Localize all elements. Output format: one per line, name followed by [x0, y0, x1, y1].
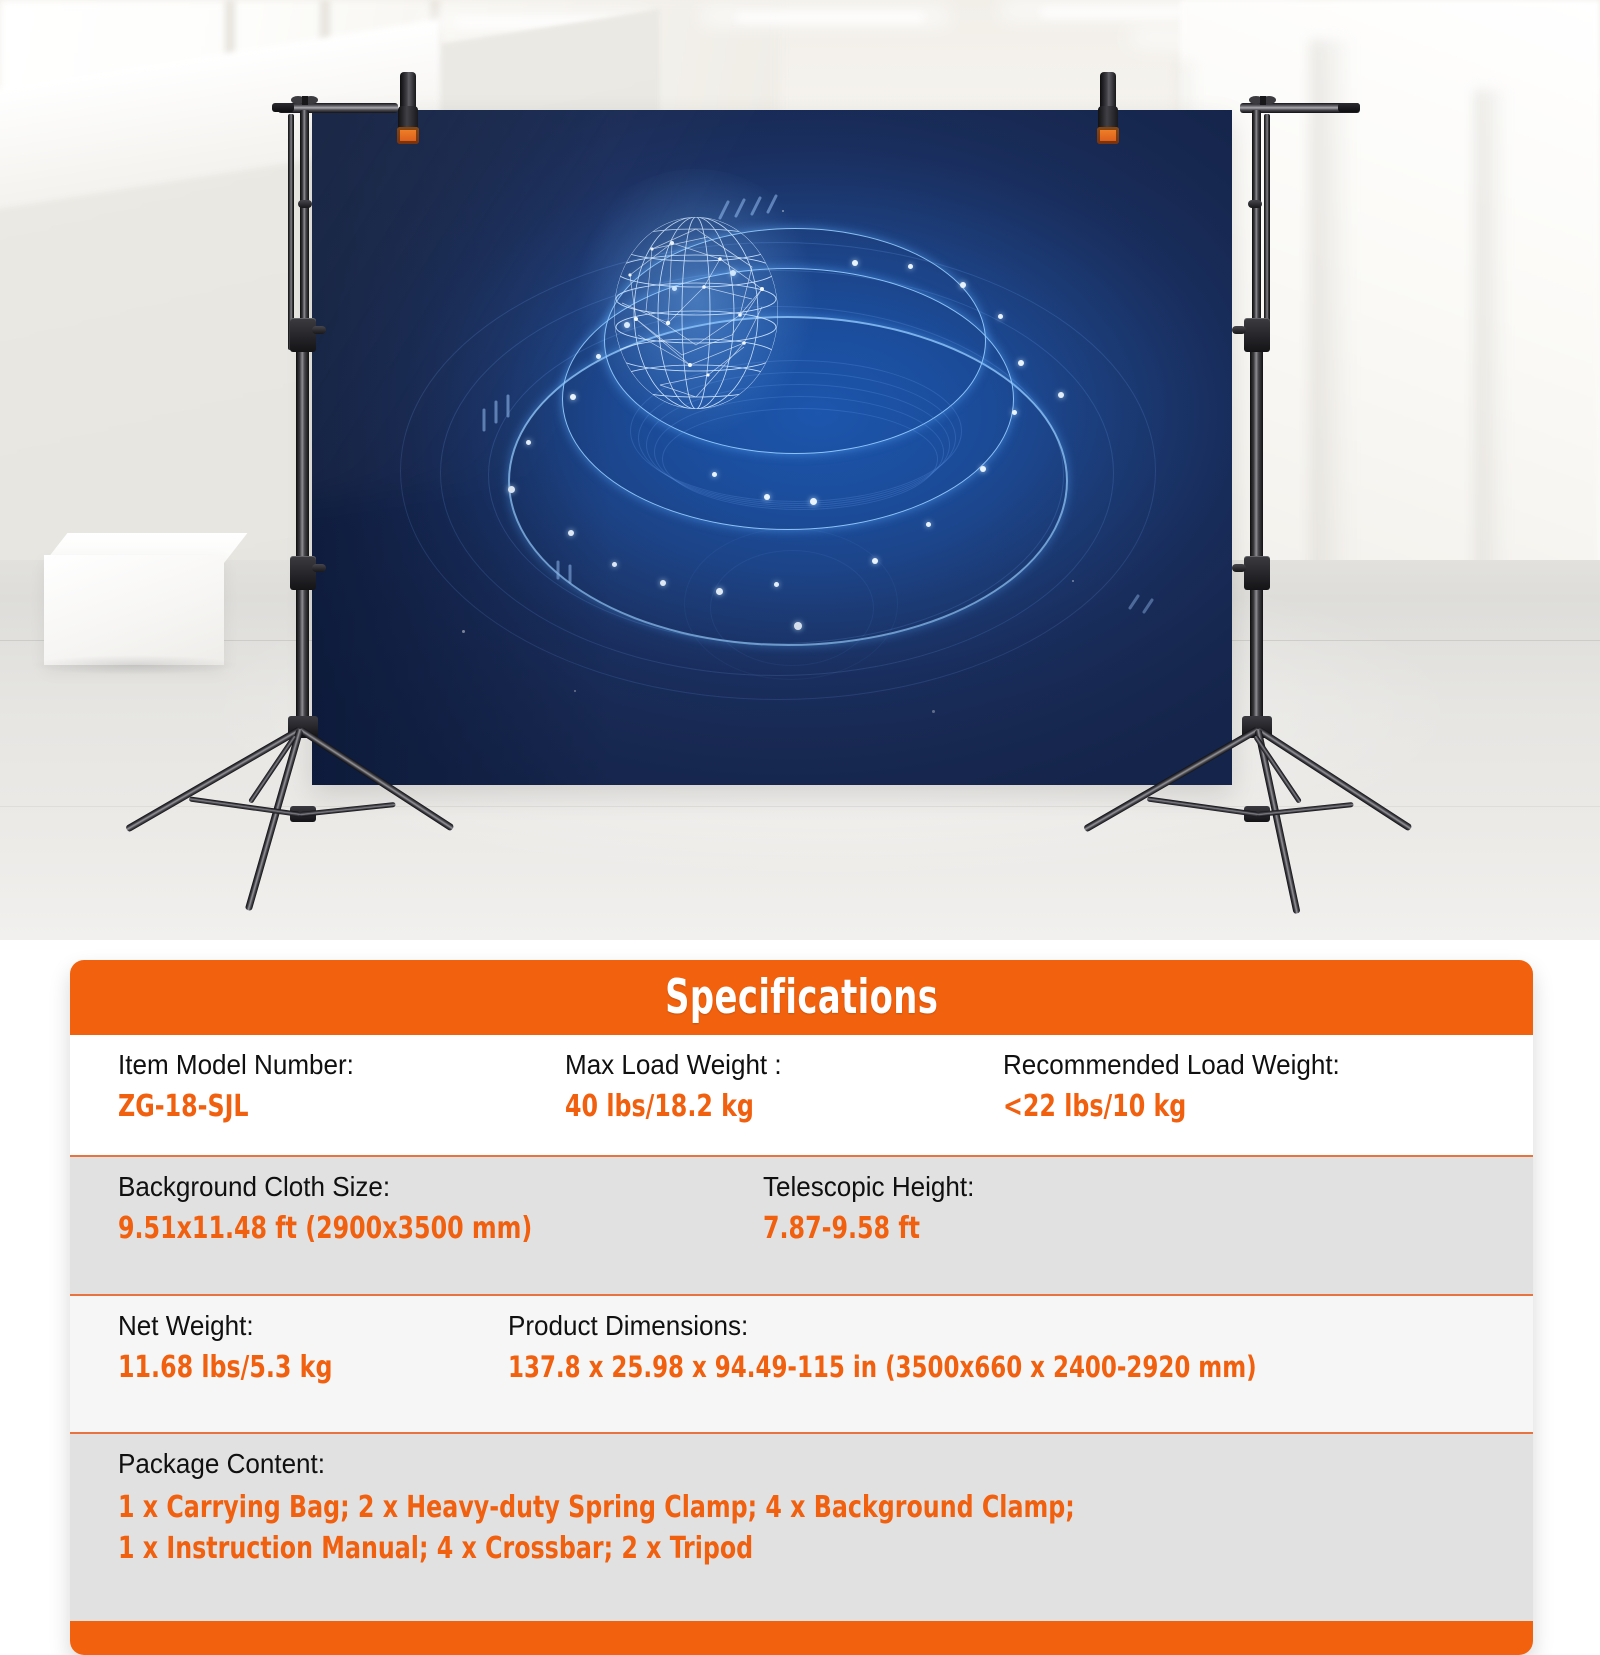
spec-cell: Recommended Load Weight: <22 lbs/10 kg: [1003, 1049, 1365, 1124]
specifications-card: Specifications Item Model Number: ZG-18-…: [70, 960, 1533, 1655]
pole-lower: [1250, 320, 1263, 720]
package-line-2: 1 x Instruction Manual; 4 x Crossbar; 2 …: [118, 1531, 1075, 1566]
spec-cell: Max Load Weight : 40 lbs/18.2 kg: [565, 1049, 798, 1124]
spec-row-package: Package Content: 1 x Carrying Bag; 2 x H…: [70, 1432, 1533, 1621]
spec-label: Item Model Number:: [118, 1049, 354, 1081]
lock-knob-pin: [1232, 326, 1246, 334]
height-lock-knob: [298, 200, 312, 208]
product-spec-page: Specifications Item Model Number: ZG-18-…: [0, 0, 1600, 1600]
crossbar-wing-knob: [1248, 92, 1278, 106]
spec-cell: Background Cloth Size: 9.51x11.48 ft (29…: [118, 1171, 589, 1246]
spec-label: Background Cloth Size:: [118, 1171, 556, 1203]
lock-knob: [1244, 556, 1270, 590]
pole-inner: [288, 114, 294, 350]
spec-value: ZG-18-SJL: [118, 1089, 341, 1124]
crossbar-wing-knob: [290, 92, 320, 106]
spec-row: Item Model Number: ZG-18-SJL Max Load We…: [70, 1035, 1533, 1155]
spec-cell: Net Weight: 11.68 lbs/5.3 kg: [118, 1310, 362, 1385]
package-line-1: 1 x Carrying Bag; 2 x Heavy-duty Spring …: [118, 1490, 1075, 1525]
spec-value: 7.87-9.58 ft: [763, 1211, 963, 1246]
backdrop-cloth: [312, 110, 1232, 785]
pole-inner: [1264, 114, 1270, 350]
pole-lower: [296, 320, 309, 720]
lock-knob: [1244, 318, 1270, 352]
lock-knob: [290, 556, 316, 590]
spec-label: Recommended Load Weight:: [1003, 1049, 1340, 1081]
spec-cell: Item Model Number: ZG-18-SJL: [118, 1049, 372, 1124]
pole-upper: [1252, 110, 1261, 350]
spec-row: Background Cloth Size: 9.51x11.48 ft (29…: [70, 1155, 1533, 1294]
lock-knob-pin: [1232, 564, 1246, 572]
lock-knob-pin: [312, 326, 326, 334]
package-cell: Package Content: 1 x Carrying Bag; 2 x H…: [118, 1448, 1205, 1566]
white-box-prop: [44, 555, 224, 665]
specifications-header: Specifications: [70, 960, 1533, 1035]
spec-cell: Product Dimensions: 137.8 x 25.98 x 94.4…: [508, 1310, 1359, 1384]
height-lock-knob: [1248, 200, 1262, 208]
white-box-shadow: [30, 655, 240, 675]
spec-label: Max Load Weight :: [565, 1049, 782, 1081]
spec-value: <22 lbs/10 kg: [1003, 1089, 1322, 1124]
product-photo: [0, 0, 1600, 940]
spec-cell: Telescopic Height: 7.87-9.58 ft: [763, 1171, 990, 1246]
lock-knob-pin: [312, 564, 326, 572]
spec-value: 137.8 x 25.98 x 94.49-115 in (3500x660 x…: [508, 1350, 1257, 1384]
crossbar-cap: [1338, 103, 1360, 112]
lock-knob: [290, 318, 316, 352]
spec-label: Telescopic Height:: [763, 1171, 974, 1203]
spec-label: Product Dimensions:: [508, 1310, 1299, 1342]
pole-upper: [300, 110, 309, 350]
spec-row: Net Weight: 11.68 lbs/5.3 kg Product Dim…: [70, 1294, 1533, 1432]
spec-value: 40 lbs/18.2 kg: [565, 1089, 770, 1124]
card-footer-bar: [70, 1621, 1533, 1655]
page-title: Specifications: [665, 974, 938, 1021]
pillar: [1475, 90, 1505, 610]
spec-value: 9.51x11.48 ft (2900x3500 mm): [118, 1211, 532, 1246]
spec-value: 11.68 lbs/5.3 kg: [118, 1350, 332, 1385]
spec-label: Net Weight:: [118, 1310, 345, 1342]
package-label: Package Content:: [118, 1448, 1129, 1480]
pillar: [1310, 40, 1350, 600]
